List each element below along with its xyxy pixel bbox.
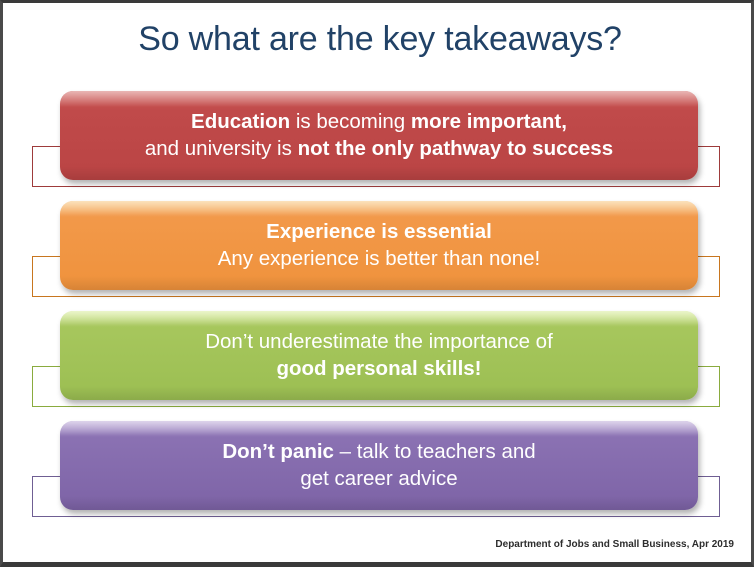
takeaway-line: and university is not the only pathway t…	[145, 136, 613, 163]
takeaway-line: Any experience is better than none!	[218, 246, 541, 273]
takeaway-line: Education is becoming more important,	[191, 109, 567, 136]
takeaway-card-experience[interactable]: Experience is essentialAny experience is…	[60, 201, 698, 290]
takeaway-line: get career advice	[300, 466, 457, 493]
emphasis-text: Education	[191, 110, 290, 133]
takeaway-line: good personal skills!	[276, 356, 481, 383]
emphasis-text: Experience is essential	[266, 220, 492, 243]
takeaway-card-dont-panic[interactable]: Don’t panic – talk to teachers andget ca…	[60, 421, 698, 510]
emphasis-text: not the only pathway to success	[298, 137, 614, 160]
body-text: and university is	[145, 137, 298, 160]
takeaway-row-dont-panic: Don’t panic – talk to teachers andget ca…	[3, 418, 754, 528]
footer-attribution: Department of Jobs and Small Business, A…	[495, 539, 734, 550]
body-text: – talk to teachers and	[334, 440, 536, 463]
emphasis-text: more important,	[411, 110, 567, 133]
takeaway-card-skills[interactable]: Don’t underestimate the importance ofgoo…	[60, 311, 698, 400]
page-title: So what are the key takeaways?	[3, 20, 754, 59]
slide-canvas: So what are the key takeaways? Education…	[0, 0, 754, 567]
emphasis-text: good personal skills!	[276, 357, 481, 380]
body-text: Any experience is better than none!	[218, 247, 541, 270]
takeaway-row-education: Education is becoming more important,and…	[3, 88, 754, 198]
takeaway-line: Don’t panic – talk to teachers and	[222, 439, 535, 466]
body-text: Don’t underestimate the importance of	[205, 330, 553, 353]
takeaway-card-education[interactable]: Education is becoming more important,and…	[60, 91, 698, 180]
takeaway-line: Don’t underestimate the importance of	[205, 329, 553, 356]
takeaway-line: Experience is essential	[266, 219, 492, 246]
takeaway-row-skills: Don’t underestimate the importance ofgoo…	[3, 308, 754, 418]
slide-content: So what are the key takeaways? Education…	[3, 3, 754, 567]
body-text: is becoming	[290, 110, 411, 133]
body-text: get career advice	[300, 467, 457, 490]
emphasis-text: Don’t panic	[222, 440, 334, 463]
takeaway-row-experience: Experience is essentialAny experience is…	[3, 198, 754, 308]
